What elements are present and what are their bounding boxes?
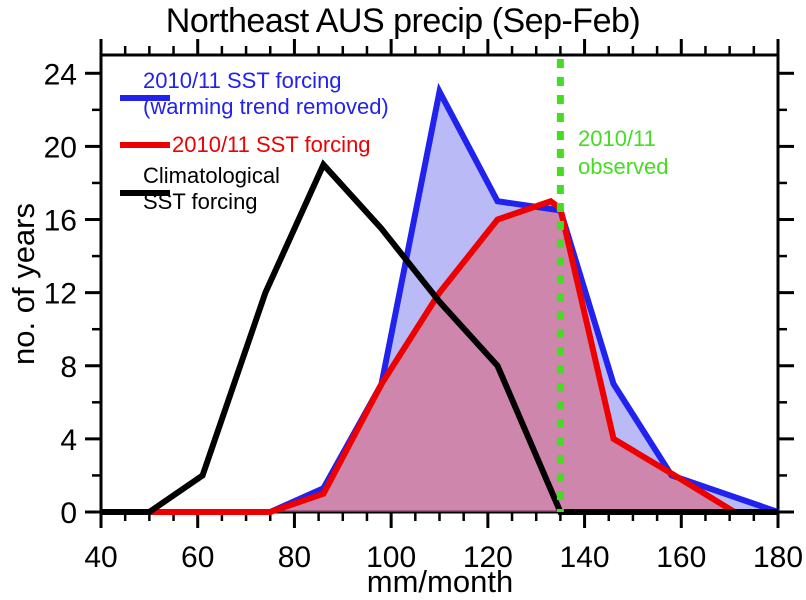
chart-page: Northeast AUS precip (Sep-Feb) 406080100… (0, 0, 806, 600)
y-axis-title: no. of years (6, 203, 41, 365)
x-tick-label: 60 (181, 541, 214, 574)
x-tick-label: 140 (560, 541, 610, 574)
legend-label-blue-line2: (warming trend removed) (143, 94, 389, 119)
y-tick-label: 12 (44, 278, 77, 311)
legend-label-blue-line1: 2010/11 SST forcing (143, 68, 342, 93)
y-tick-label: 20 (44, 131, 77, 164)
y-tick-label: 8 (60, 351, 77, 384)
legend-label-black-line1: Climatological (143, 163, 280, 188)
y-tick-label: 4 (60, 424, 77, 457)
x-tick-label: 40 (84, 541, 117, 574)
x-axis-title: mm/month (367, 564, 513, 599)
y-tick-label: 0 (60, 497, 77, 530)
y-tick-label: 24 (44, 58, 77, 91)
legend-label-black-line2: SST forcing (143, 189, 258, 214)
precipitation-histogram-chart: 406080100120140160180 04812162024 mm/mon… (0, 0, 806, 600)
legend-label-red-line1: 2010/11 SST forcing (172, 132, 371, 157)
x-tick-label: 180 (753, 541, 803, 574)
observed-label-line1: 2010/11 (578, 126, 656, 151)
x-tick-label: 80 (278, 541, 311, 574)
observed-label-line2: observed (578, 154, 669, 179)
y-axis-tick-labels: 04812162024 (44, 58, 77, 530)
x-tick-label: 160 (656, 541, 706, 574)
y-tick-label: 16 (44, 205, 77, 238)
